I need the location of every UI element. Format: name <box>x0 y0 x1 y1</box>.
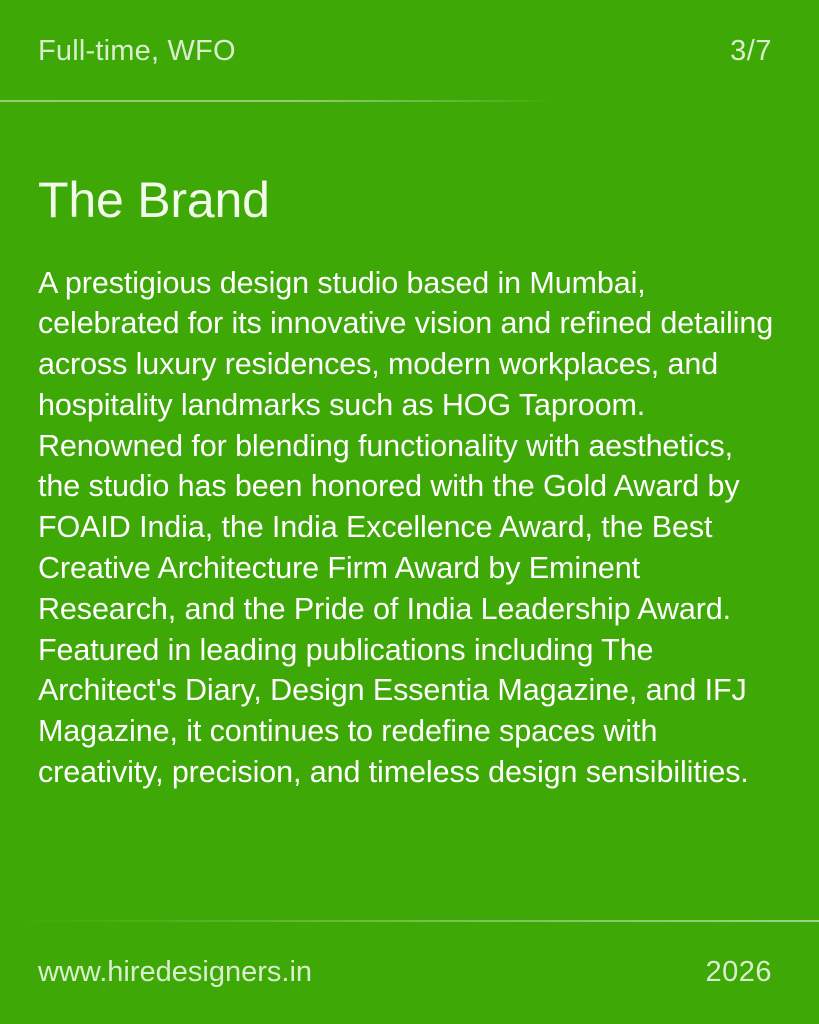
page-title: The Brand <box>38 174 781 227</box>
slide-card: Full-time, WFO 3/7 The Brand A prestigio… <box>0 0 819 1024</box>
slide-main-content: The Brand A prestigious design studio ba… <box>0 102 819 920</box>
website-url[interactable]: www.hiredesigners.in <box>38 958 312 987</box>
header-divider <box>0 100 557 102</box>
slide-footer: www.hiredesigners.in 2026 <box>0 920 819 1024</box>
footer-divider <box>0 920 819 922</box>
brand-description-text: A prestigious design studio based in Mum… <box>38 263 781 793</box>
slide-header: Full-time, WFO 3/7 <box>0 0 819 102</box>
slide-counter: 3/7 <box>730 37 772 66</box>
employment-type-label: Full-time, WFO <box>38 37 236 66</box>
year-label: 2026 <box>705 958 772 987</box>
